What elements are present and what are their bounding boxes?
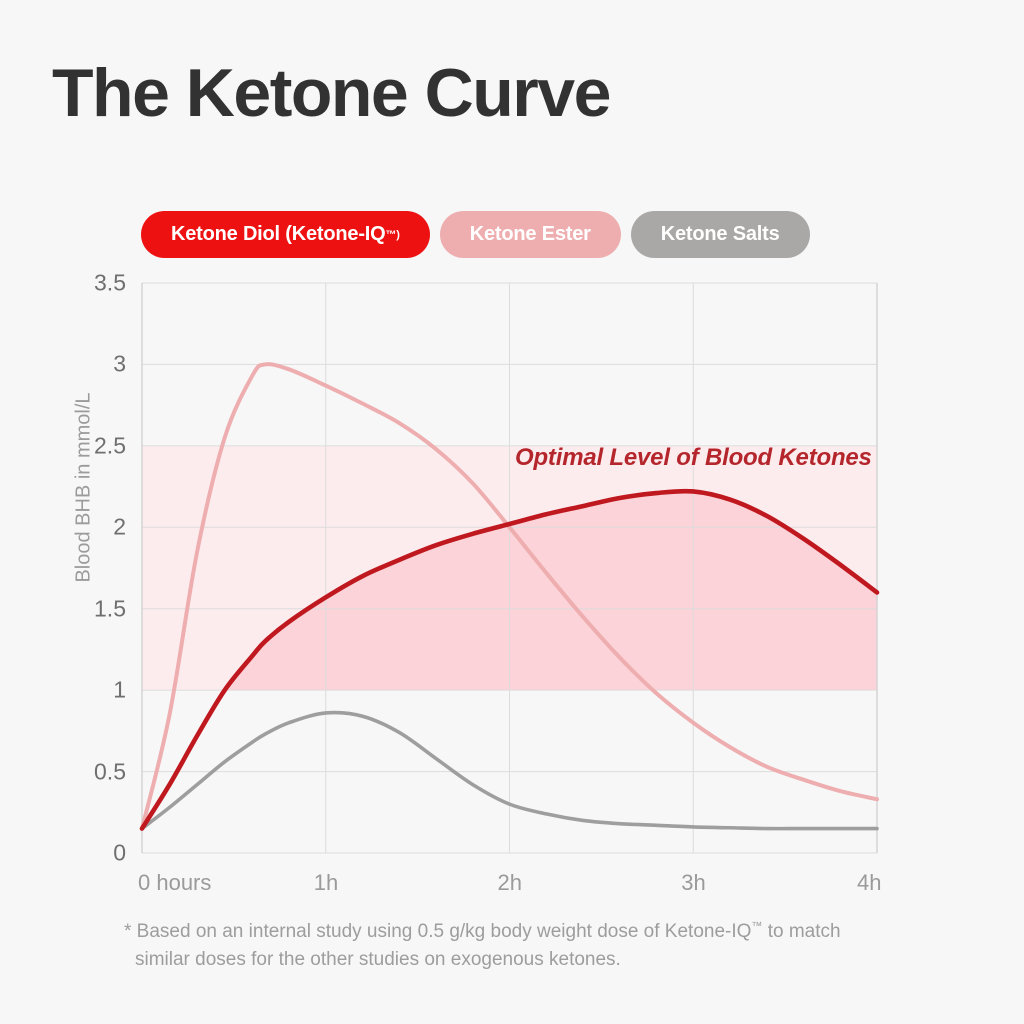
y-tick-label: 3.5 <box>0 270 126 297</box>
y-tick-label: 0 <box>0 840 126 867</box>
y-tick-label: 1 <box>0 677 126 704</box>
y-axis-ticks: 00.511.522.533.5 <box>0 0 126 1024</box>
x-tick-label: 2h <box>498 870 522 896</box>
y-tick-label: 3 <box>0 351 126 378</box>
footnote-line-1: * Based on an internal study using 0.5 g… <box>124 921 751 942</box>
footnote-line-1-end: to match <box>762 921 840 942</box>
x-tick-label: 3h <box>681 870 705 896</box>
y-tick-label: 1.5 <box>0 595 126 622</box>
x-tick-label: 1h <box>314 870 338 896</box>
x-tick-label: 0 hours <box>138 870 211 896</box>
y-tick-label: 0.5 <box>0 758 126 785</box>
page-root: The Ketone Curve Ketone Diol (Ketone-IQ™… <box>0 0 1024 1024</box>
footnote-trademark: ™ <box>751 921 762 933</box>
chart-plot-area: Blood BHB in mmol/L 00.511.522.533.5 0 h… <box>0 0 1024 1024</box>
y-tick-label: 2 <box>0 514 126 541</box>
optimal-band-annotation: Optimal Level of Blood Ketones <box>515 444 872 472</box>
x-tick-label: 4h <box>857 870 881 896</box>
y-tick-label: 2.5 <box>0 432 126 459</box>
footnote-line-2: similar doses for the other studies on e… <box>124 946 914 974</box>
footnote: * Based on an internal study using 0.5 g… <box>124 918 914 973</box>
